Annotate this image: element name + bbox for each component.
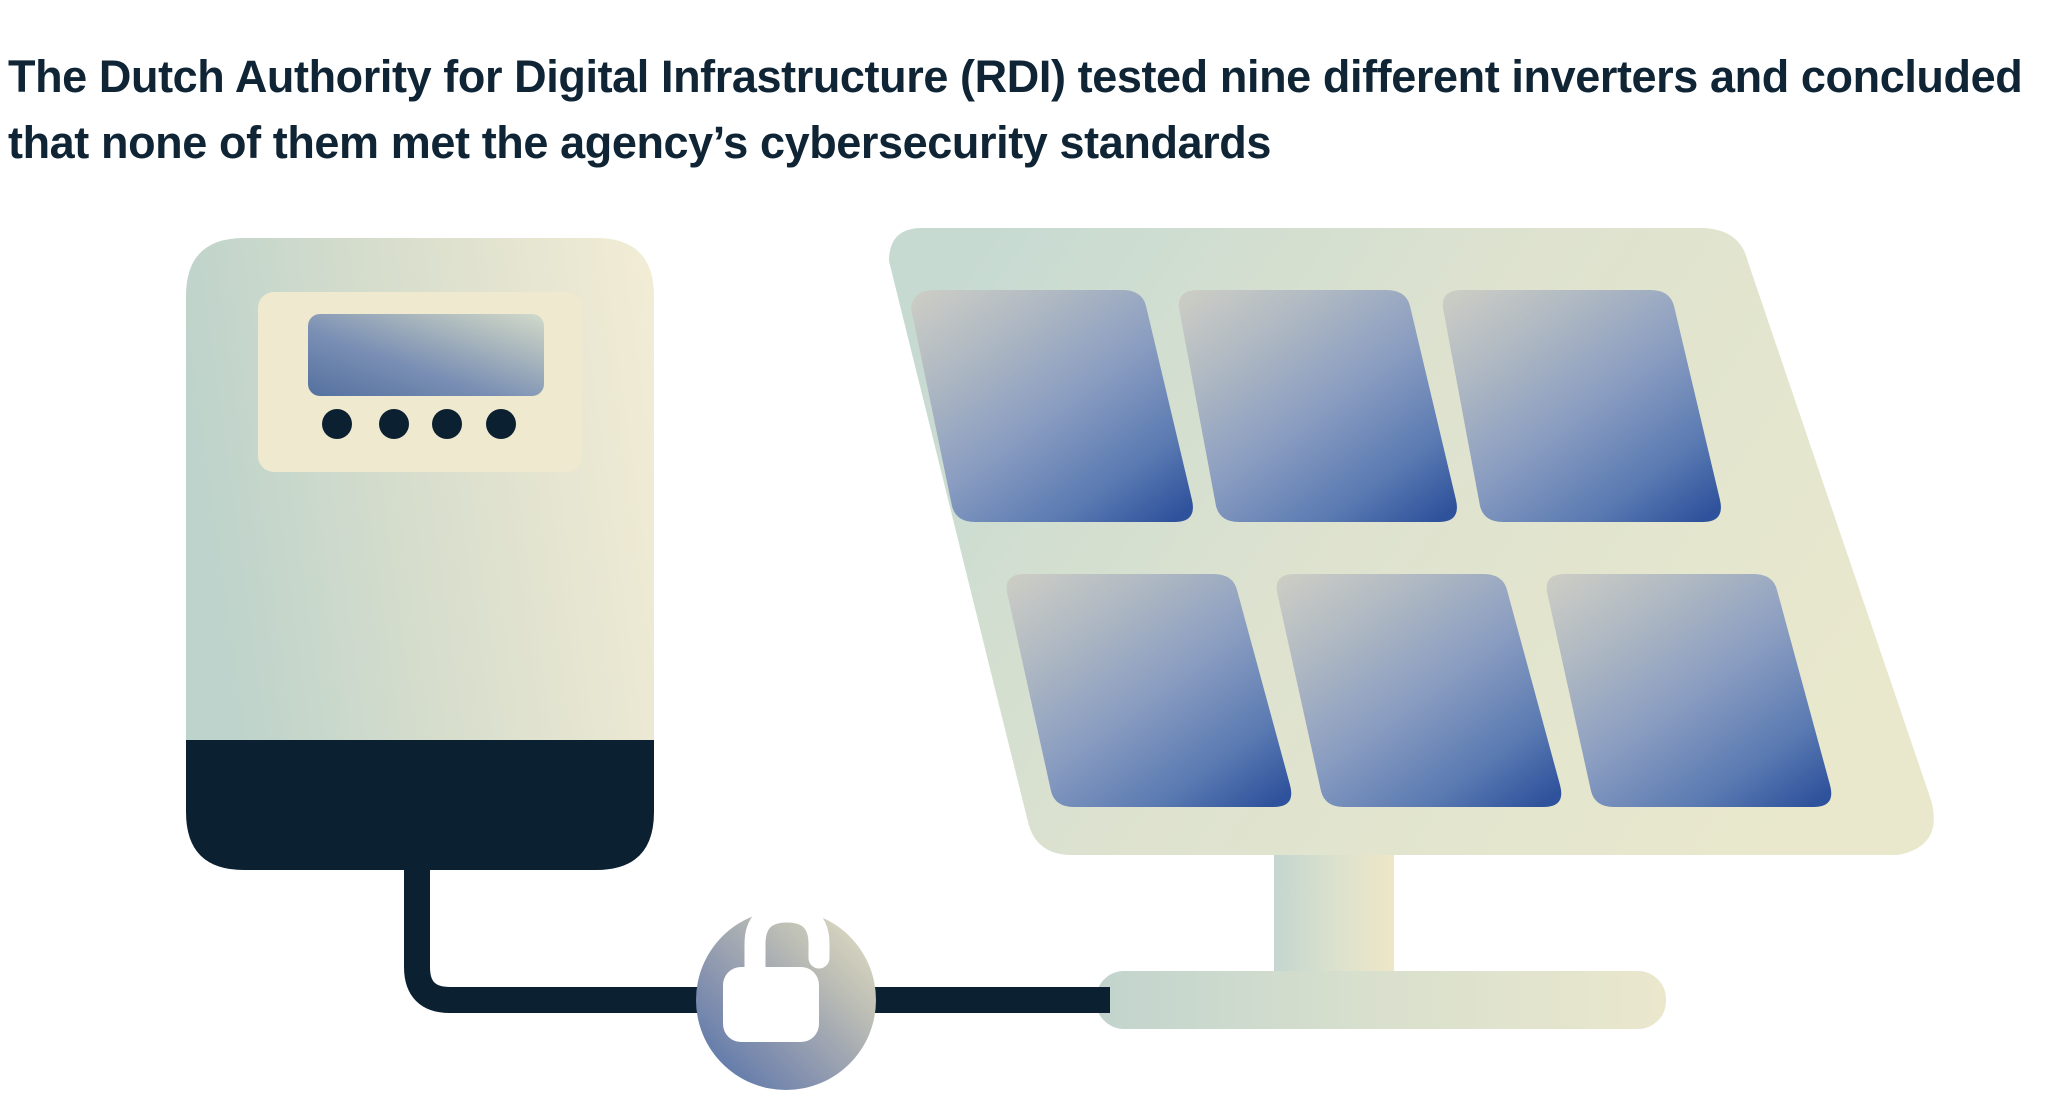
inverter-led-indicator [486,409,516,439]
solar-panel-post [1274,855,1394,990]
inverter-base [186,740,654,870]
inverter-led-indicator [432,409,462,439]
solar-inverter [186,238,654,870]
page-root: The Dutch Authority for Digital Infrastr… [0,0,2048,1109]
unlocked-padlock-badge [696,910,876,1090]
illustration-svg [0,0,2048,1109]
inverter-led-indicator [322,409,352,439]
padlock-body-icon [723,967,819,1042]
illustration-container [0,0,2048,1109]
solar-panel [889,228,1934,1029]
inverter-led-indicator [379,409,409,439]
solar-panel-base-bar [1096,971,1666,1029]
inverter-display-screen [308,314,544,396]
